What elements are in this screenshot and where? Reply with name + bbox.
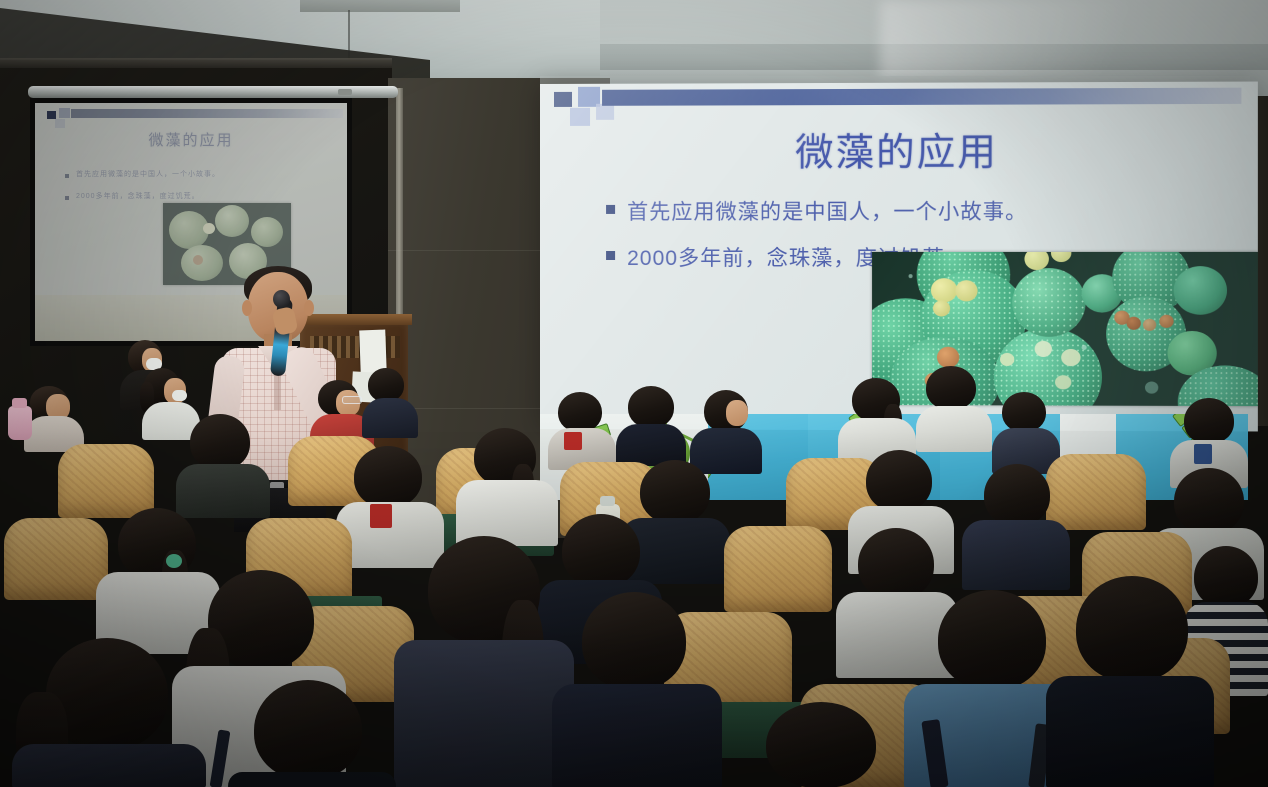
person bbox=[962, 464, 1072, 590]
slide-bullet-marker bbox=[606, 205, 615, 214]
person bbox=[394, 536, 576, 787]
person bbox=[1046, 576, 1216, 787]
preview-deco-bar bbox=[71, 109, 343, 118]
person bbox=[916, 366, 994, 452]
deco-bar bbox=[602, 88, 1241, 106]
person bbox=[552, 592, 724, 787]
person bbox=[24, 386, 88, 452]
preview-bullet-item: 首先应用微藻的是中国人，一个小故事。 bbox=[65, 169, 220, 179]
preview-bullet-item: 2000多年前，念珠藻，度过饥荒。 bbox=[65, 191, 220, 201]
person bbox=[740, 702, 908, 787]
bottle-cap bbox=[600, 496, 615, 506]
audience bbox=[0, 350, 1268, 787]
person bbox=[362, 368, 420, 438]
bottle-cap bbox=[12, 398, 27, 408]
left-wall-trim bbox=[0, 58, 392, 68]
preview-deco-square-mid bbox=[59, 108, 70, 118]
slide-bullet-item: 首先应用微藻的是中国人，一个小故事。 bbox=[606, 195, 1027, 226]
preview-deco-square-dark bbox=[47, 111, 56, 119]
seat bbox=[58, 444, 154, 518]
ceiling-vent bbox=[300, 0, 460, 12]
person bbox=[992, 392, 1062, 474]
slide-bullet-marker bbox=[606, 251, 615, 260]
photograph-scene: 微藻的应用 首先应用微藻的是中国人，一个小故事。 2000多年前，念珠藻，度过饥… bbox=[0, 0, 1268, 787]
preview-deco-square-light bbox=[55, 119, 65, 128]
slide-title: 微藻的应用 bbox=[540, 120, 1258, 177]
roller-knob bbox=[338, 89, 352, 95]
person bbox=[228, 680, 398, 787]
deco-square-light-2 bbox=[596, 104, 614, 120]
presenter-ear bbox=[242, 300, 252, 316]
preview-bullet-marker bbox=[65, 196, 69, 200]
preview-bullet-text: 2000多年前，念珠藻，度过饥荒。 bbox=[76, 191, 200, 201]
preview-slide-title: 微藻的应用 bbox=[35, 129, 347, 150]
preview-bullet-marker bbox=[65, 174, 69, 178]
microphone-head-icon bbox=[273, 290, 290, 308]
person bbox=[12, 638, 208, 787]
seat bbox=[4, 518, 108, 600]
preview-bullet-text: 首先应用微藻的是中国人，一个小故事。 bbox=[76, 169, 220, 179]
slide-bullet-text: 首先应用微藻的是中国人，一个小故事。 bbox=[627, 195, 1027, 226]
presenter-ear bbox=[304, 300, 314, 316]
wall-glare bbox=[880, 0, 1268, 80]
person bbox=[616, 386, 688, 466]
deco-square-dark bbox=[554, 92, 572, 107]
water-bottle bbox=[8, 406, 32, 440]
seat bbox=[724, 526, 832, 612]
person bbox=[176, 414, 272, 518]
